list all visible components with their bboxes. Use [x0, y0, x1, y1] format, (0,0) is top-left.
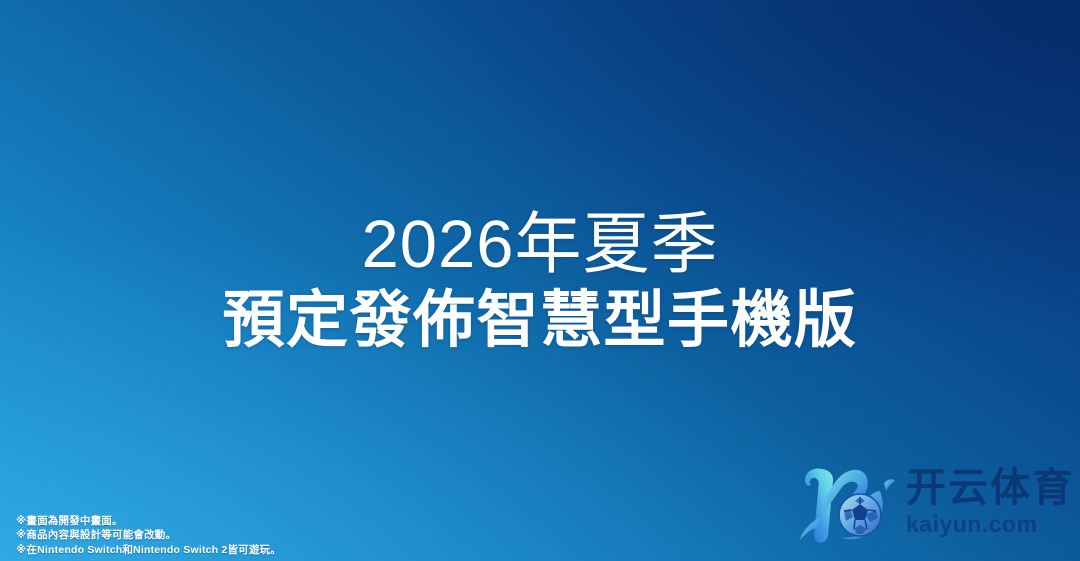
footnote-line: ※在Nintendo Switch和Nintendo Switch 2皆可遊玩。 — [16, 543, 281, 558]
watermark-url: kaiyun.com — [906, 511, 1074, 537]
release-window-title: 2026年夏季 — [0, 206, 1080, 284]
footnotes: ※畫面為開發中畫面。 ※商品內容與設計等可能會改動。 ※在Nintendo Sw… — [16, 514, 281, 558]
watermark-text: 开云体育 kaiyun.com — [906, 467, 1074, 537]
title-block: 2026年夏季 預定發佈智慧型手機版 — [0, 206, 1080, 358]
footnote-line: ※商品內容與設計等可能會改動。 — [16, 528, 281, 543]
announcement-slide: 2026年夏季 預定發佈智慧型手機版 ※畫面為開發中畫面。 ※商品內容與設計等可… — [0, 0, 1080, 561]
watermark-brand-name: 开云体育 — [906, 467, 1074, 509]
kaiyun-logo-icon — [792, 457, 904, 549]
release-subtitle: 預定發佈智慧型手機版 — [0, 284, 1080, 358]
watermark: 开云体育 kaiyun.com — [792, 457, 1074, 549]
footnote-line: ※畫面為開發中畫面。 — [16, 514, 281, 529]
